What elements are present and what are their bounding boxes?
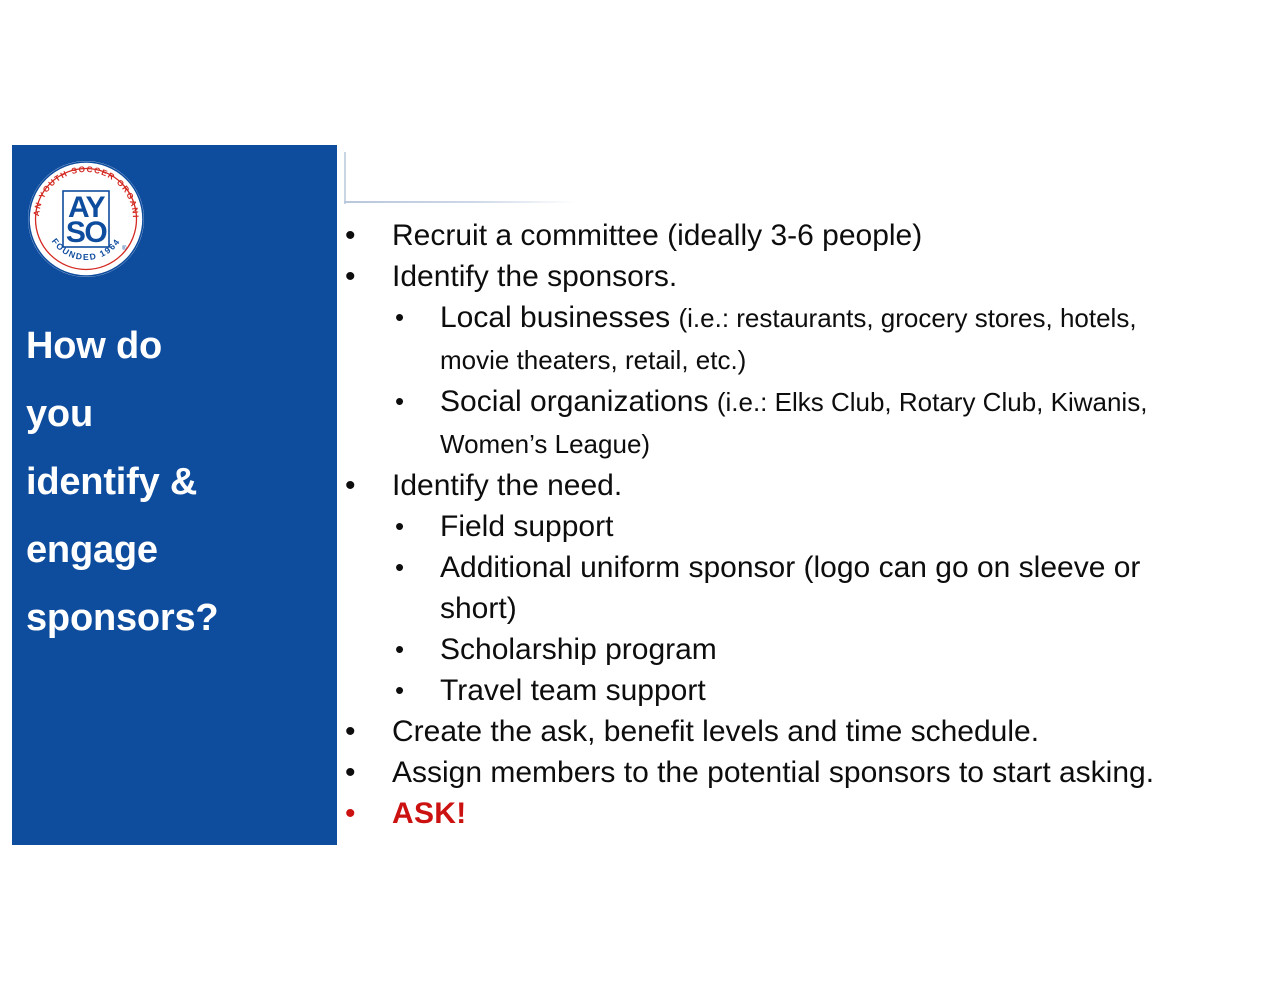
slide-canvas: AMERICAN YOUTH SOCCER ORGANIZATION FOUND… [0, 0, 1280, 989]
bullet-marker-icon: • [345, 256, 356, 297]
bullet-marker-icon: • [395, 506, 404, 547]
bullet-item-l2: •Travel team support [0, 670, 1280, 711]
decorative-vertical-rule [344, 152, 346, 204]
bullet-item-l2: •Scholarship program [0, 629, 1280, 670]
bullet-marker-icon: • [345, 711, 356, 752]
bullet-text: Recruit a committee (ideally 3-6 people) [392, 219, 922, 252]
bullet-text: ASK! [392, 797, 467, 830]
bullet-text: Scholarship program [440, 633, 717, 666]
bullet-item-l2: •Social organizations (i.e.: Elks Club, … [0, 381, 1280, 465]
bullet-marker-icon: • [345, 215, 356, 256]
bullet-marker-icon: • [345, 752, 356, 793]
bullet-item-l1: •Identify the sponsors. [0, 256, 1280, 297]
bullet-item-l1: •Recruit a committee (ideally 3-6 people… [0, 215, 1280, 256]
bullet-item-l1: •Assign members to the potential sponsor… [0, 752, 1280, 793]
bullet-marker-icon: • [395, 381, 404, 422]
bullet-item-l2: •Local businesses (i.e.: restaurants, gr… [0, 297, 1280, 381]
bullet-marker-icon: • [345, 465, 356, 506]
bullet-item-l1: •ASK! [0, 793, 1280, 834]
bullet-marker-icon: • [395, 297, 404, 338]
bullet-item-l2: •Field support [0, 506, 1280, 547]
bullet-item-l2: •Additional uniform sponsor (logo can go… [0, 547, 1280, 629]
bullet-item-l1: •Create the ask, benefit levels and time… [0, 711, 1280, 752]
bullet-marker-icon: • [345, 793, 356, 834]
bullet-text: Identify the sponsors. [392, 260, 677, 293]
bullet-text: Assign members to the potential sponsors… [392, 756, 1154, 789]
bullet-item-l1: •Identify the need. [0, 465, 1280, 506]
bullet-marker-icon: • [395, 629, 404, 670]
bullet-marker-icon: • [395, 670, 404, 711]
decorative-horizontal-rule [344, 201, 576, 203]
bullet-text-lead: Local businesses [440, 301, 678, 334]
bullet-list: •Recruit a committee (ideally 3-6 people… [0, 215, 1280, 834]
bullet-text: Create the ask, benefit levels and time … [392, 715, 1039, 748]
bullet-text: Identify the need. [392, 469, 622, 502]
bullet-text: Travel team support [440, 674, 706, 707]
bullet-text: Field support [440, 510, 613, 543]
bullet-marker-icon: • [395, 547, 404, 588]
bullet-text: Additional uniform sponsor (logo can go … [440, 551, 1140, 625]
bullet-text-lead: Social organizations [440, 385, 717, 418]
